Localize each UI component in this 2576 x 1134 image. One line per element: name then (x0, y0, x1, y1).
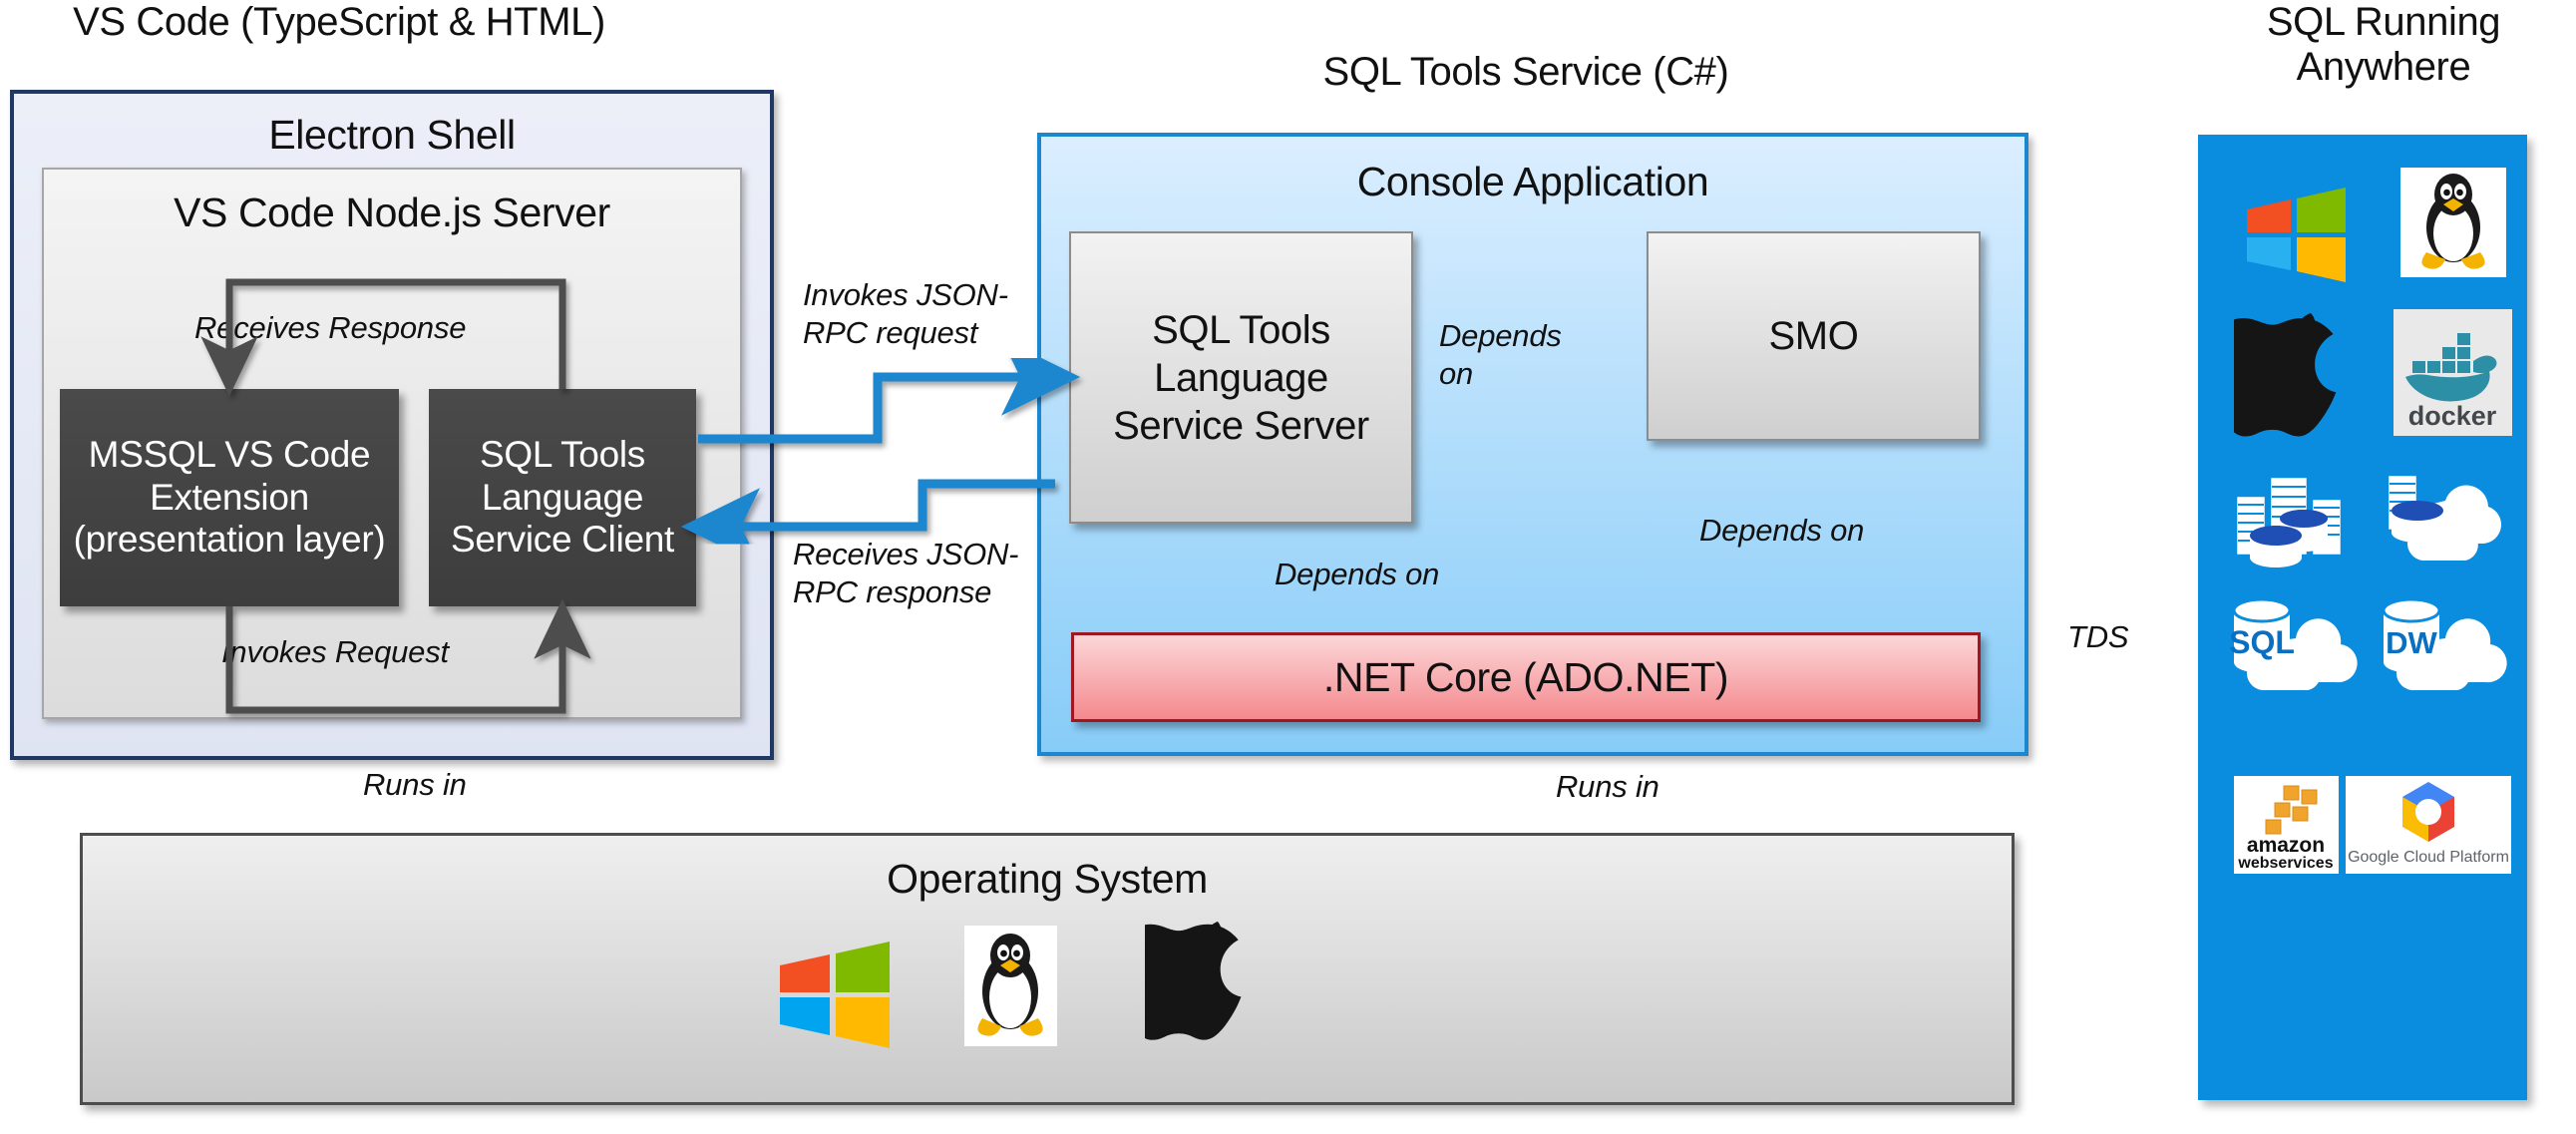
azure-dw-label: DW (2386, 625, 2437, 660)
aws-wordmark-top: amazon (2247, 834, 2325, 857)
architecture-diagram: VS Code (TypeScript & HTML) SQL Tools Se… (0, 0, 2576, 1134)
windows-logo (776, 936, 894, 1053)
edge-label-invokes-json-rpc-request: Invokes JSON-RPC request (803, 276, 1032, 353)
azure-sql-database-icon: SQL (2226, 598, 2368, 702)
sql-tools-language-service-server-box[interactable]: SQL Tools Language Service Server (1069, 231, 1413, 524)
heading-sql-tools-service: SQL Tools Service (C#) (1067, 50, 1985, 95)
aws-wordmark-bottom: webservices (2237, 855, 2333, 872)
edge-label-depends-on-smo: Depends on (1439, 317, 1599, 394)
mssql-vscode-extension-box[interactable]: MSSQL VS Code Extension (presentation la… (60, 389, 399, 606)
electron-shell-title: Electron Shell (14, 112, 770, 159)
operating-system-title: Operating System (83, 856, 2012, 903)
gcp-wordmark: Google Cloud Platform (2348, 849, 2509, 866)
apple-logo (1145, 918, 1257, 1047)
linux-tux-logo (2400, 168, 2506, 277)
apple-logo (2234, 309, 2350, 445)
vscode-node-server-title: VS Code Node.js Server (44, 189, 740, 236)
edge-label-tds: TDS (2067, 618, 2187, 656)
heading-sql-running-anywhere: SQL Running Anywhere (2194, 0, 2573, 90)
smo-box[interactable]: SMO (1647, 231, 1981, 441)
windows-logo (2244, 183, 2349, 287)
azure-sql-label: SQL (2229, 624, 2295, 660)
edge-label-receives-response: Receives Response (194, 309, 494, 347)
docker-wordmark: docker (2408, 401, 2497, 431)
edge-label-invokes-request: Invokes Request (221, 633, 521, 671)
azure-sql-data-warehouse-icon: DW (2376, 598, 2517, 702)
console-application-title: Console Application (1041, 159, 2024, 205)
sql-server-on-premises-icon (2230, 471, 2358, 570)
sql-tools-language-service-client-box[interactable]: SQL Tools Language Service Client (429, 389, 696, 606)
linux-tux-logo (964, 926, 1057, 1046)
amazon-web-services-logo: amazon webservices (2234, 776, 2339, 874)
dotnet-core-ado-net-box[interactable]: .NET Core (ADO.NET) (1071, 632, 1981, 722)
edge-label-depends-on-dotnet-right: Depends on (1699, 512, 1979, 550)
sql-server-vm-cloud-icon (2382, 471, 2513, 570)
docker-logo: docker (2393, 309, 2512, 436)
edge-label-receives-json-rpc-response: Receives JSON-RPC response (793, 536, 1022, 612)
edge-label-runs-in-right: Runs in (1556, 768, 1755, 806)
heading-vscode: VS Code (TypeScript & HTML) (20, 0, 658, 45)
edge-label-depends-on-dotnet-left: Depends on (1275, 556, 1554, 593)
google-cloud-platform-logo: Google Cloud Platform (2346, 776, 2511, 874)
edge-label-runs-in-left: Runs in (363, 766, 562, 804)
